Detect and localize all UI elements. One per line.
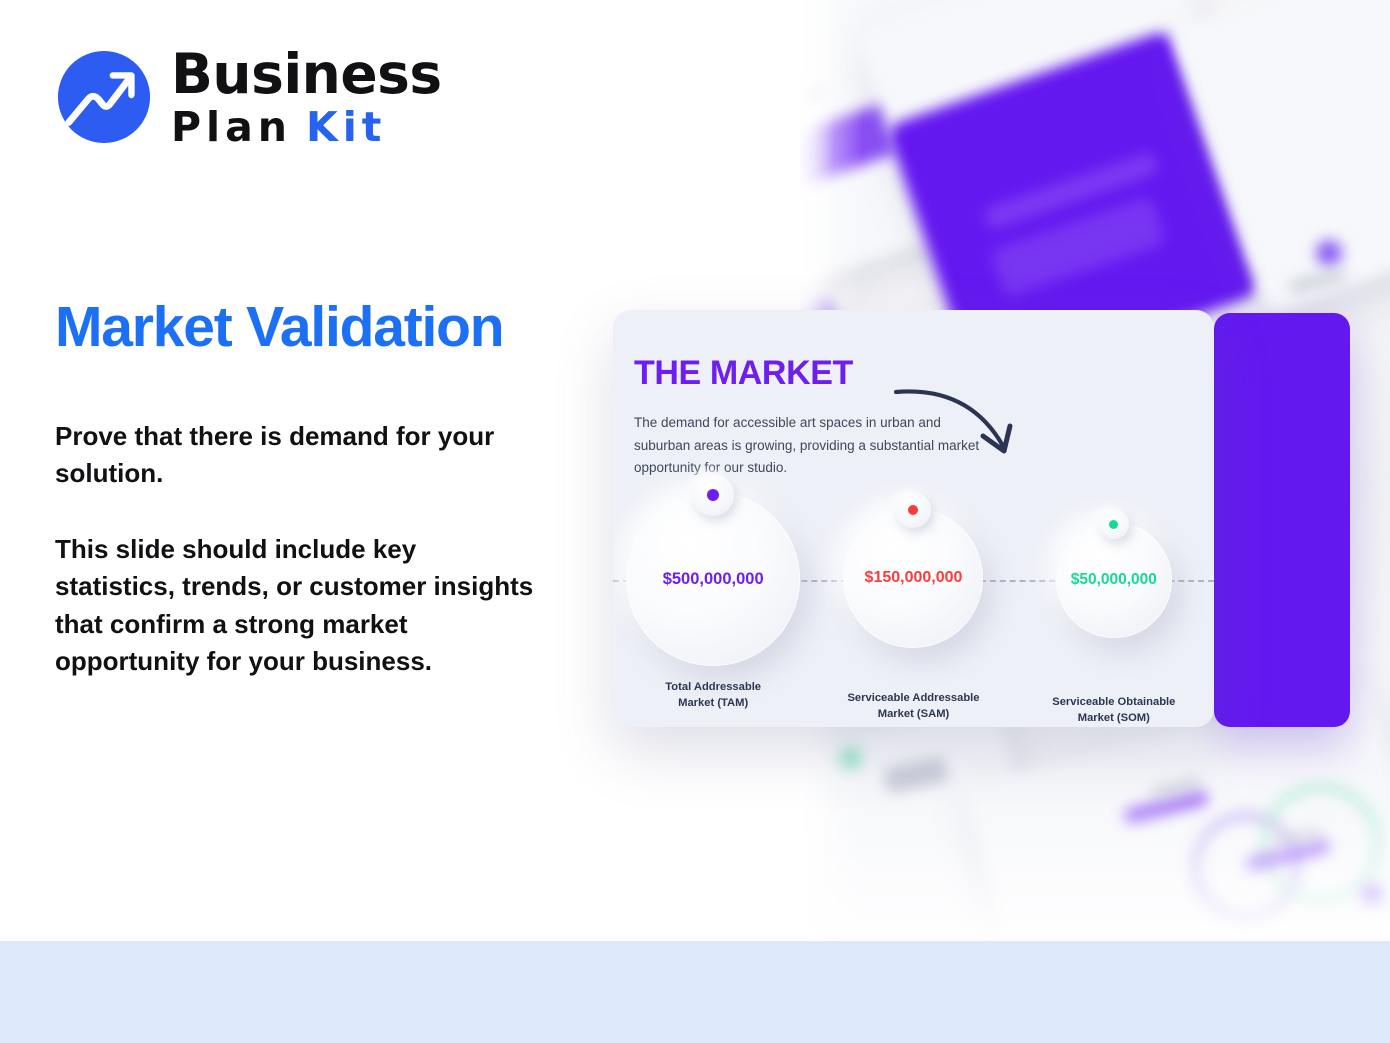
- purple-accent-block: [1214, 313, 1350, 727]
- bg-dot-purple-1: [1316, 240, 1342, 266]
- metric-amount-som: $50,000,000: [1071, 571, 1157, 589]
- logo-plankit-line: PlanKit: [171, 107, 442, 148]
- logo-plan-text: Plan: [171, 103, 292, 151]
- logo-wordmark: Business PlanKit: [171, 45, 442, 148]
- brand-logo[interactable]: Business PlanKit: [55, 45, 442, 148]
- metric-label-som: Serviceable Obtainable Market (SOM): [1052, 694, 1175, 726]
- market-card-title: THE MARKET: [634, 354, 853, 393]
- bottom-color-band: [0, 941, 1390, 1043]
- photo-bottom-fade: [793, 791, 1390, 941]
- curved-arrow-down-right-icon: [891, 362, 1031, 462]
- metric-knob-sam: $150,000,000: [843, 508, 983, 648]
- lead-paragraph: Prove that there is demand for your solu…: [55, 418, 585, 492]
- metric-tam[interactable]: $500,000,000 Total Addressable Market (T…: [613, 492, 813, 726]
- slide-canvas: Business PlanKit Market Validation Prove…: [0, 0, 1390, 1043]
- metric-label-sam-line1: Serviceable Addressable: [847, 692, 979, 704]
- market-metrics-row: $500,000,000 Total Addressable Market (T…: [613, 492, 1214, 726]
- knob-disc-tam: $500,000,000: [626, 492, 800, 666]
- metric-som[interactable]: $50,000,000 Serviceable Obtainable Marke…: [1014, 492, 1214, 726]
- knob-disc-som: $50,000,000: [1056, 522, 1172, 638]
- logo-kit-text: Kit: [306, 103, 386, 151]
- logo-business-text: Business: [171, 47, 442, 102]
- metric-sam[interactable]: $150,000,000 Serviceable Addressable Mar…: [813, 492, 1013, 726]
- green-indicator-dot: [1109, 520, 1118, 529]
- knob-bump-sam: [895, 492, 931, 528]
- knob-bump-som: [1099, 509, 1129, 539]
- metric-knob-tam: $500,000,000: [626, 492, 800, 666]
- the-market-card: THE MARKET The demand for accessible art…: [613, 310, 1214, 727]
- metric-label-tam-line1: Total Addressable: [665, 681, 761, 693]
- page-title: Market Validation: [55, 297, 503, 359]
- body-paragraph: This slide should include key statistics…: [55, 531, 535, 681]
- knob-disc-sam: $150,000,000: [843, 508, 983, 648]
- knob-bump-tam: [692, 474, 734, 516]
- metric-label-som-line2: Market (SOM): [1078, 712, 1150, 724]
- red-indicator-dot: [908, 505, 918, 515]
- metric-label-sam: Serviceable Addressable Market (SAM): [847, 690, 979, 722]
- metric-label-tam-line2: Market (TAM): [678, 697, 748, 709]
- metric-label-sam-line2: Market (SAM): [878, 708, 949, 720]
- metric-label-tam: Total Addressable Market (TAM): [665, 679, 761, 711]
- metric-knob-som: $50,000,000: [1056, 522, 1172, 638]
- metric-amount-tam: $500,000,000: [663, 570, 764, 589]
- metric-label-som-line1: Serviceable Obtainable: [1052, 696, 1175, 708]
- metric-amount-sam: $150,000,000: [865, 569, 963, 587]
- purple-indicator-dot: [707, 489, 719, 501]
- growth-chart-circle-icon: [55, 48, 153, 146]
